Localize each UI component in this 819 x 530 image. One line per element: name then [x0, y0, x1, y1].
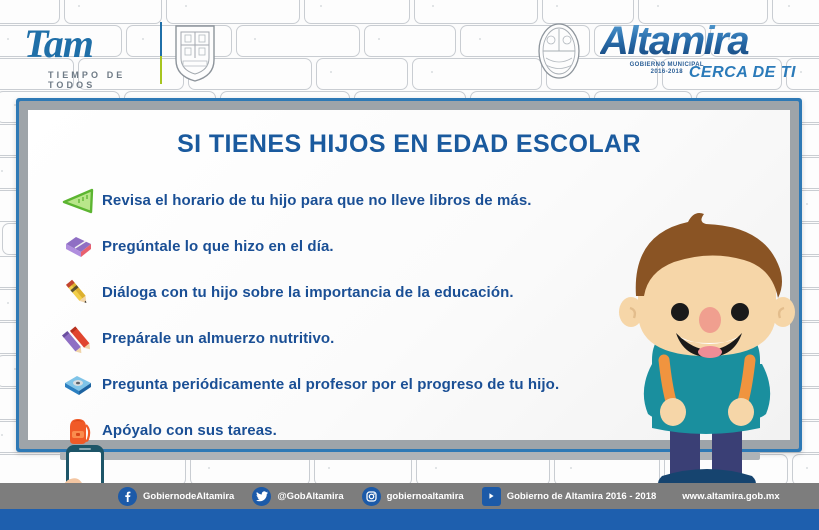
brick	[364, 25, 456, 57]
brick	[414, 0, 538, 24]
altamira-coat-of-arms-icon	[536, 20, 582, 82]
ruler-triangle-icon	[54, 188, 102, 214]
eraser-icon	[54, 235, 102, 259]
website-url[interactable]: www.altamira.gob.mx	[682, 491, 779, 502]
tam-logo-wordmark: Tam	[24, 20, 154, 68]
facebook-icon[interactable]	[118, 487, 137, 506]
colored-pencils-icon	[54, 324, 102, 354]
pencil-icon	[54, 278, 102, 308]
twitter-icon[interactable]	[252, 487, 271, 506]
advice-list-item-text: Pregunta periódicamente al profesor por …	[102, 376, 559, 393]
altamira-logo-slogan: CERCA DE TI	[689, 64, 796, 82]
brick	[412, 58, 542, 90]
tam-logo-tagline: TIEMPO DE TODOS	[48, 70, 154, 90]
page-title: SI TIENES HIJOS EN EDAD ESCOLAR	[28, 130, 790, 159]
social-handle[interactable]: GobiernodeAltamira	[143, 491, 234, 502]
advice-list-item-text: Pregúntale lo que hizo en el día.	[102, 238, 334, 255]
tam-logo: Tam TIEMPO DE TODOS	[24, 22, 154, 88]
schoolboy-illustration	[592, 200, 819, 490]
instagram-icon[interactable]	[362, 487, 381, 506]
advice-list-item-text: Prepárale un almuerzo nutritivo.	[102, 330, 334, 347]
altamira-logo: Altamira GOBIERNO MUNICIPAL 2016-2018 CE…	[600, 22, 800, 88]
backpack-icon	[54, 416, 102, 446]
advice-list-item-text: Diáloga con tu hijo sobre la importancia…	[102, 284, 514, 301]
social-links: GobiernodeAltamira@GobAltamiragobiernoal…	[118, 483, 819, 509]
tamaulipas-coat-of-arms-icon	[172, 20, 218, 82]
brick	[316, 58, 408, 90]
brick	[304, 0, 410, 24]
social-handle[interactable]: gobiernoaltamira	[387, 491, 464, 502]
footer-blue-bar	[0, 509, 819, 530]
logo-divider	[160, 22, 162, 84]
youtube-icon[interactable]	[482, 487, 501, 506]
social-handle[interactable]: @GobAltamira	[277, 491, 343, 502]
brick	[236, 25, 360, 57]
advice-list-item-text: Apóyalo con sus tareas.	[102, 422, 277, 439]
social-handle[interactable]: Gobierno de Altamira 2016 - 2018	[507, 491, 657, 502]
altamira-logo-wordmark: Altamira	[600, 18, 800, 64]
pencil-sharpener-icon	[54, 373, 102, 397]
poster-canvas: Tam TIEMPO DE TODOS Altami	[0, 0, 819, 530]
advice-list-item-text: Revisa el horario de tu hijo para que no…	[102, 192, 532, 209]
